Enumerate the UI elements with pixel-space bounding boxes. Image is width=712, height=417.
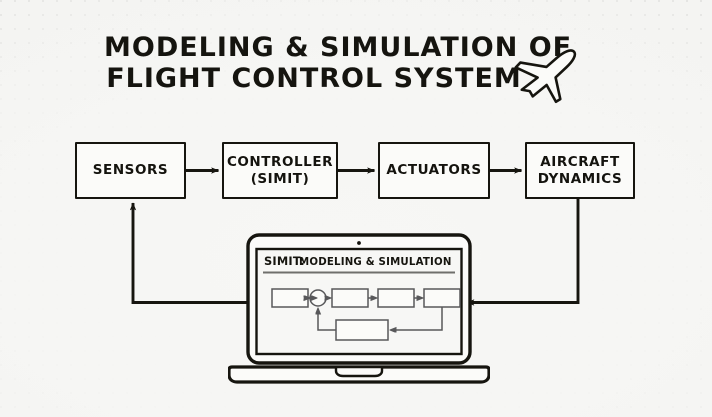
illustration-canvas: MODELING & SIMULATION OF FLIGHT CONTROL … <box>0 0 712 417</box>
screen-block-2 <box>332 289 368 307</box>
screen-block-1 <box>272 289 308 307</box>
screen-block-4 <box>424 289 460 307</box>
screen-block-3 <box>378 289 414 307</box>
laptop-webcam-icon <box>357 241 361 245</box>
laptop-illustration: SIMIT: MODELING & SIMULATION <box>228 232 490 392</box>
screen-title-rest: MODELING & SIMULATION <box>299 257 452 268</box>
laptop-trackpad-notch <box>336 367 382 376</box>
screen-feedback-block <box>336 320 388 340</box>
